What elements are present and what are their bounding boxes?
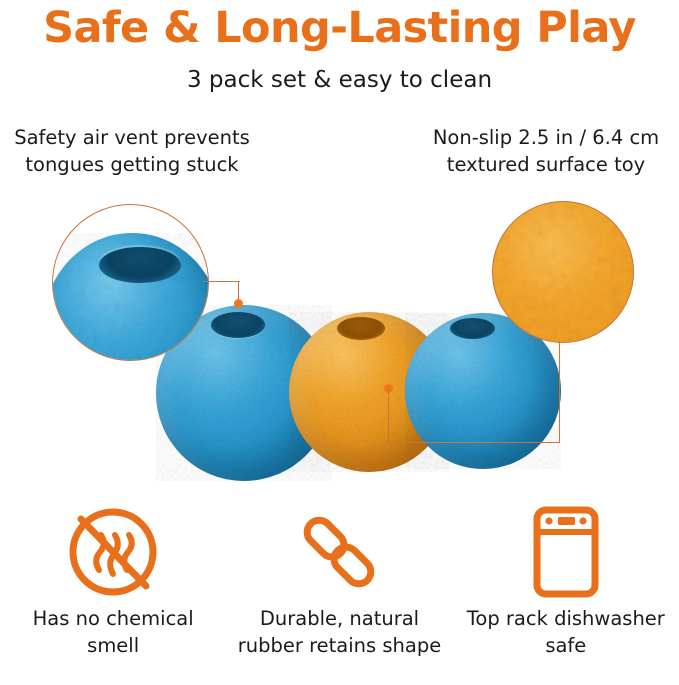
callout-caption-air-vent: Safety air vent prevents tongues getting…: [2, 125, 262, 179]
product-image-stage: [0, 195, 679, 485]
air-vent-hole-left: [211, 312, 265, 338]
no-smell-icon: [61, 498, 165, 606]
feature-row: Has no chemical smell Durable, natural r…: [0, 498, 679, 685]
leader-line-air-vent-horizontal: [203, 281, 240, 282]
feature-label-durable-rubber: Durable, natural rubber retains shape: [232, 606, 447, 660]
page-title: Safe & Long-Lasting Play: [0, 6, 679, 51]
magnified-air-vent-hole: [99, 247, 181, 283]
leader-line-textured-vertical-right: [559, 341, 560, 443]
leader-line-textured-vertical-left: [388, 388, 389, 443]
leader-dot-air-vent: [234, 299, 243, 308]
page-subtitle: 3 pack set & easy to clean: [0, 68, 679, 93]
feature-label-dishwasher-safe: Top rack dishwasher safe: [458, 606, 673, 660]
feature-label-no-chemical-smell: Has no chemical smell: [6, 606, 221, 660]
feature-no-chemical-smell: Has no chemical smell: [0, 498, 226, 685]
air-vent-hole-right: [450, 318, 495, 339]
dishwasher-icon: [514, 498, 618, 606]
chain-link-icon: [287, 498, 391, 606]
leader-line-textured-horizontal: [388, 442, 560, 443]
magnified-texture: [493, 202, 633, 342]
air-vent-hole-middle: [337, 317, 385, 340]
callout-caption-textured-surface: Non-slip 2.5 in / 6.4 cm textured surfac…: [417, 125, 675, 179]
magnifier-air-vent-closeup: [52, 204, 209, 361]
magnifier-textured-surface-closeup: [492, 201, 634, 343]
feature-durable-rubber: Durable, natural rubber retains shape: [226, 498, 452, 685]
feature-dishwasher-safe: Top rack dishwasher safe: [453, 498, 679, 685]
